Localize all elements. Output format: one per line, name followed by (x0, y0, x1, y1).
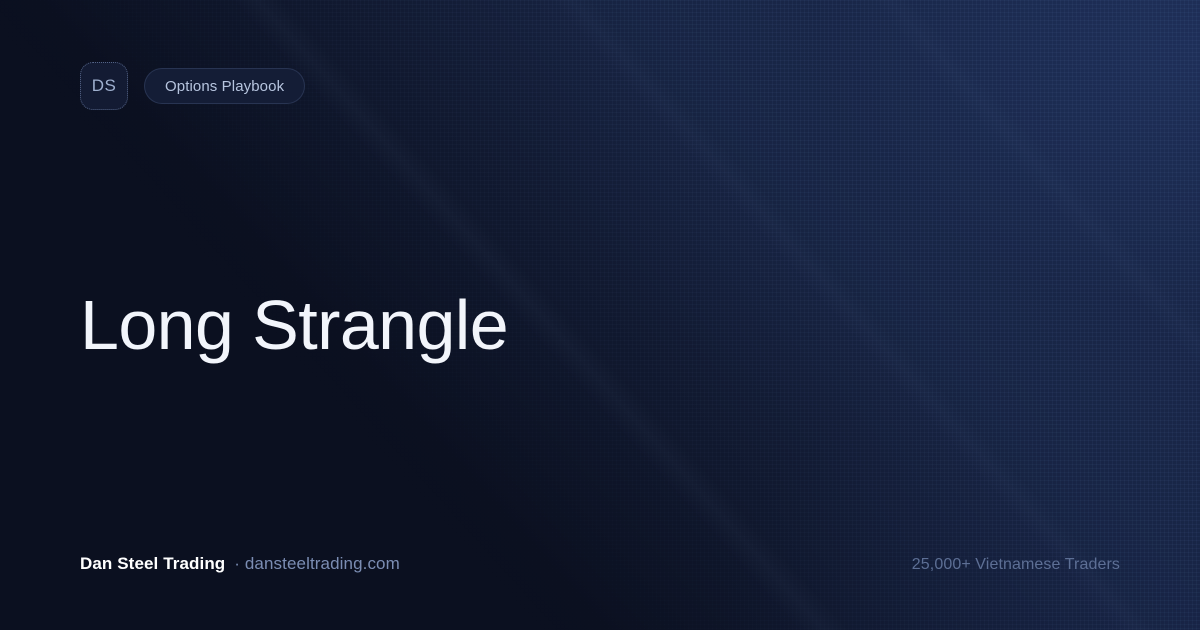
footer-website-url: · dansteeltrading.com (234, 554, 400, 574)
eyebrow-label: Options Playbook (165, 78, 284, 95)
card-content: DS Options Playbook Long Strangle Dan St… (0, 0, 1200, 630)
brand-row: DS Options Playbook (80, 62, 305, 110)
footer-brand-name: Dan Steel Trading (80, 554, 225, 574)
eyebrow-pill: Options Playbook (144, 68, 305, 104)
og-card: DS Options Playbook Long Strangle Dan St… (0, 0, 1200, 630)
page-title: Long Strangle (80, 288, 508, 362)
footer-audience-count: 25,000+ Vietnamese Traders (912, 556, 1120, 574)
logo-badge-icon: DS (80, 62, 128, 110)
logo-initials: DS (92, 76, 117, 96)
footer-left: Dan Steel Trading · dansteeltrading.com (80, 554, 400, 574)
footer: Dan Steel Trading · dansteeltrading.com … (80, 554, 1120, 574)
